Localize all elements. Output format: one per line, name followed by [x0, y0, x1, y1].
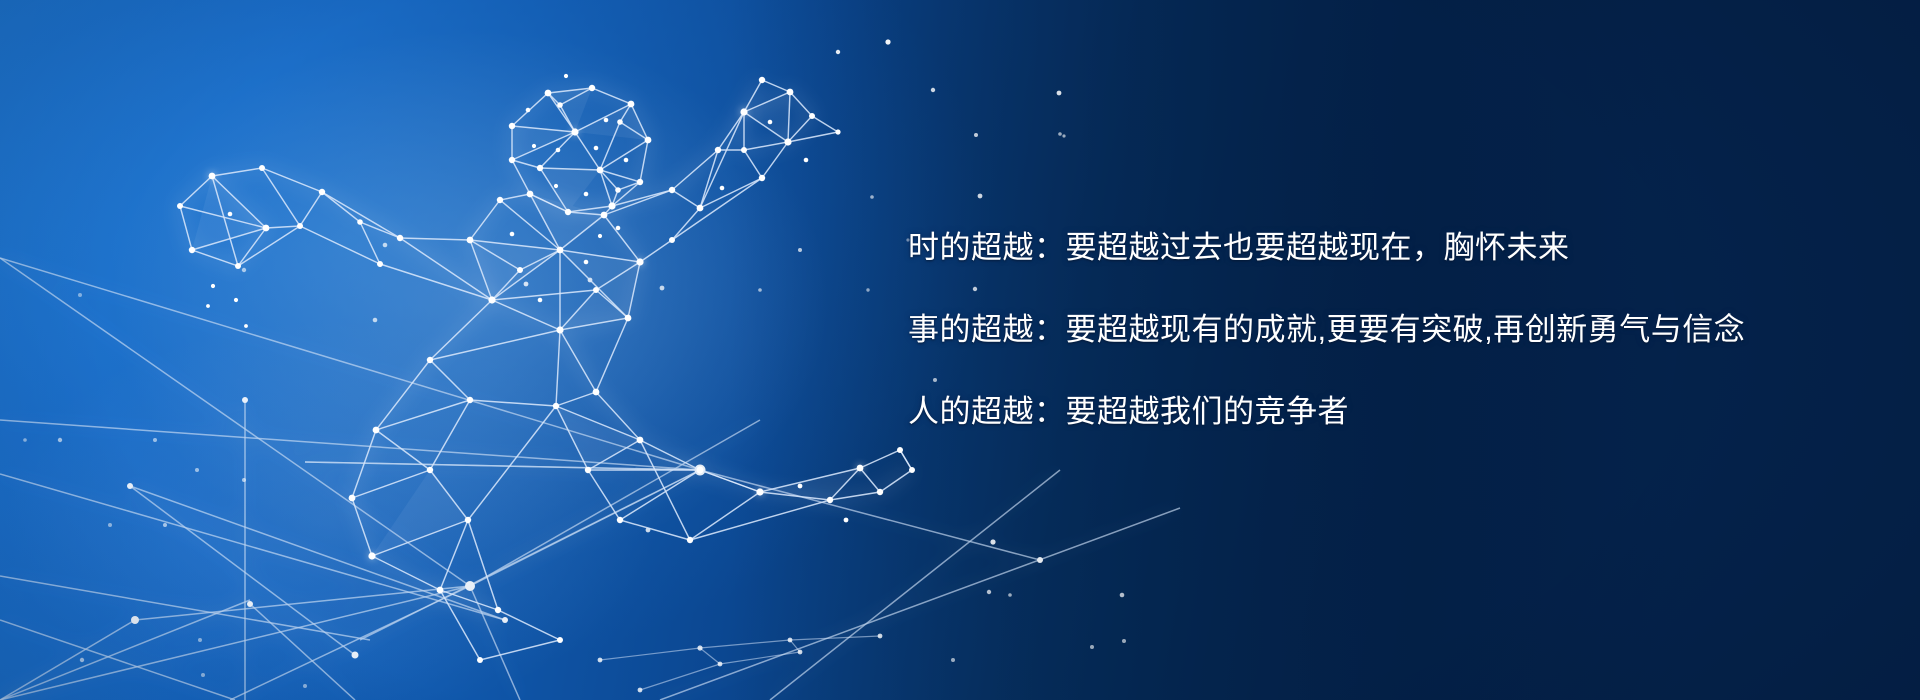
- copy-line-3: 人的超越：要超越我们的竞争者: [908, 396, 1608, 427]
- hero-banner: 时的超越：要超越过去也要超越现在，胸怀未来 事的超越：要超越现有的成就,更要有突…: [0, 0, 1920, 700]
- copy-block: 时的超越：要超越过去也要超越现在，胸怀未来 事的超越：要超越现有的成就,更要有突…: [908, 232, 1608, 427]
- copy-line-1: 时的超越：要超越过去也要超越现在，胸怀未来: [908, 232, 1608, 263]
- copy-line-2: 事的超越：要超越现有的成就,更要有突破,再创新勇气与信念: [908, 314, 1608, 345]
